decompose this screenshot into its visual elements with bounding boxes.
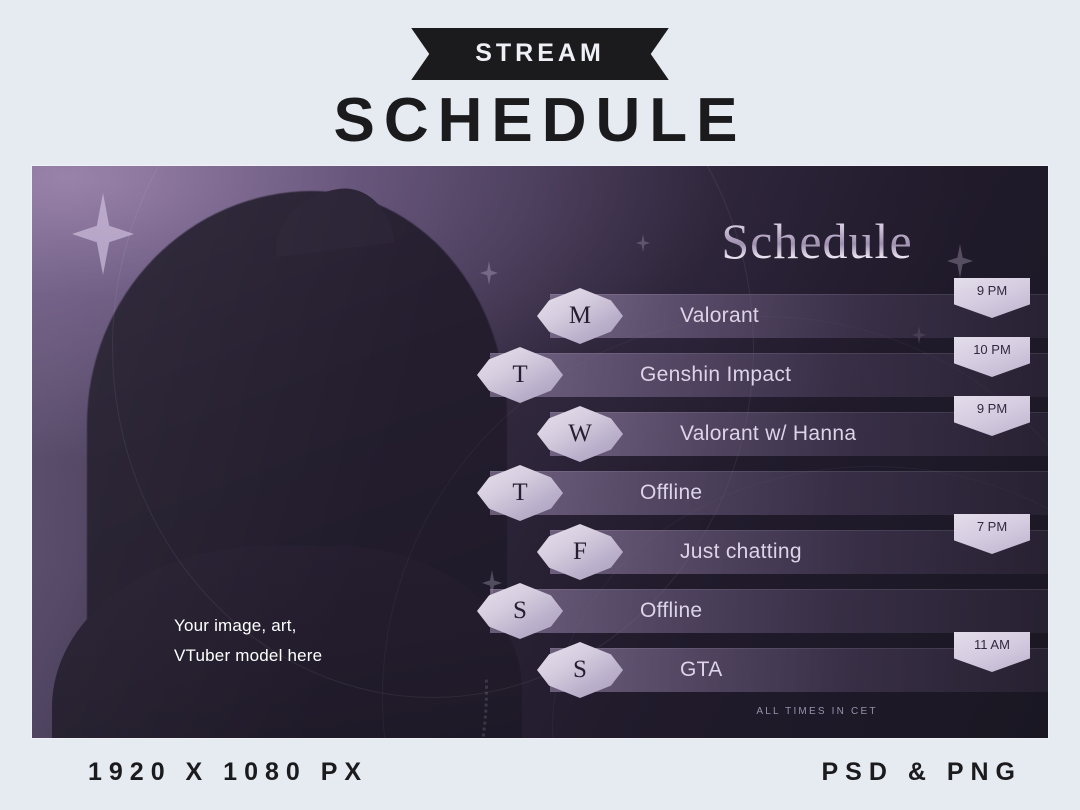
schedule-row-bar bbox=[490, 589, 1048, 633]
schedule-row-title: GTA bbox=[680, 648, 723, 692]
schedule-row[interactable]: M Valorant 9 PM bbox=[32, 294, 1048, 338]
schedule-row-title: Genshin Impact bbox=[640, 353, 791, 397]
schedule-row[interactable]: S Offline bbox=[32, 589, 1048, 633]
stream-ribbon: STREAM bbox=[411, 28, 669, 80]
schedule-row-title: Offline bbox=[640, 471, 702, 515]
schedule-row[interactable]: F Just chatting 7 PM bbox=[32, 530, 1048, 574]
dimensions-label: 1920 X 1080 PX bbox=[88, 758, 368, 787]
formats-label: PSD & PNG bbox=[821, 758, 1022, 787]
timezone-footnote: ALL TIMES IN CET bbox=[652, 706, 982, 717]
schedule-row-title: Just chatting bbox=[680, 530, 802, 574]
schedule-row-list: M Valorant 9 PM T Genshin Impact 10 PM W… bbox=[32, 294, 1048, 707]
schedule-row-bar bbox=[490, 471, 1048, 515]
schedule-row-title: Valorant w/ Hanna bbox=[680, 412, 856, 456]
schedule-row-title: Valorant bbox=[680, 294, 759, 338]
page-title: SCHEDULE bbox=[0, 88, 1080, 153]
schedule-preview-panel: Your image, art, VTuber model here Sched… bbox=[32, 166, 1048, 738]
stream-ribbon-container: STREAM bbox=[0, 28, 1080, 80]
schedule-row[interactable]: T Offline bbox=[32, 471, 1048, 515]
schedule-heading: Schedule bbox=[652, 212, 982, 270]
schedule-row[interactable]: T Genshin Impact 10 PM bbox=[32, 353, 1048, 397]
stream-ribbon-label: STREAM bbox=[475, 39, 605, 67]
schedule-row[interactable]: W Valorant w/ Hanna 9 PM bbox=[32, 412, 1048, 456]
schedule-row[interactable]: S GTA 11 AM bbox=[32, 648, 1048, 692]
schedule-row-title: Offline bbox=[640, 589, 702, 633]
